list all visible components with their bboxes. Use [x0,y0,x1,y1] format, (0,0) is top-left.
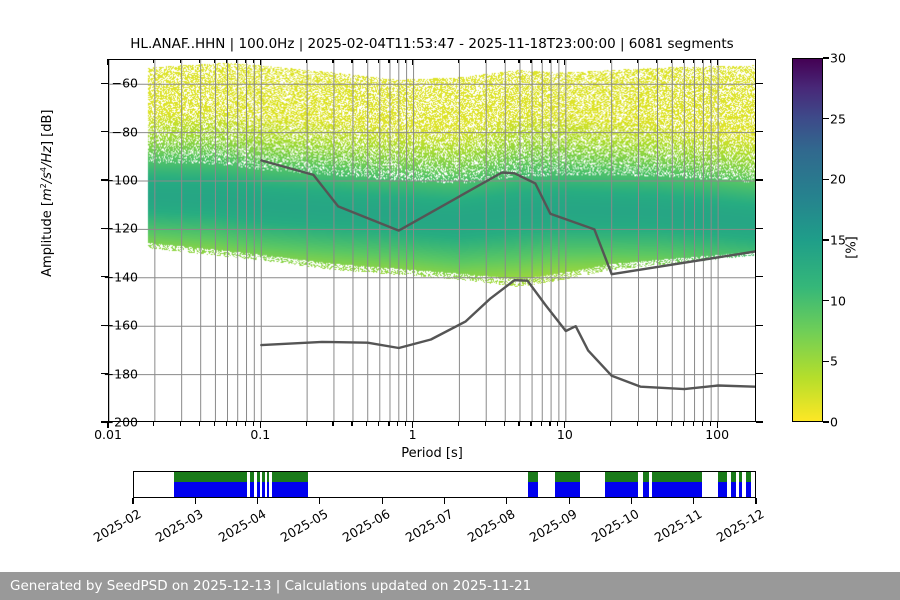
colorbar-tick-label: 30 [830,51,846,66]
timeline-segment [605,472,639,497]
timeline-segment [718,472,727,497]
colorbar-tick-label: 25 [830,111,846,126]
ppsd-figure: HL.ANAF..HHN | 100.0Hz | 2025-02-04T11:5… [0,0,900,600]
timeline-segment [643,472,649,497]
series-1 [261,280,755,389]
data-availability-timeline[interactable] [133,471,756,498]
colorbar-tick-label: 15 [830,233,846,248]
timeline-segment [250,472,254,497]
timeline-tick-label: 2025-02 [84,506,143,549]
noise-model-curves [109,60,755,421]
colorbar-tick-label: 20 [830,172,846,187]
x-tick-label: 0.01 [94,427,122,442]
y-tick-label: −60 [78,76,138,91]
timeline-segment [272,472,308,497]
timeline-segment [731,472,735,497]
timeline-segment [257,472,260,497]
y-tick-label: −120 [78,221,138,236]
x-tick-label: 1 [409,427,417,442]
timeline-segment [746,472,750,497]
timeline-tick-label: 2025-09 [520,506,579,549]
x-tick-label: 100 [705,427,729,442]
timeline-tick-label: 2025-05 [271,506,330,549]
y-tick-label: −160 [78,318,138,333]
colorbar-label: [%] [845,208,860,288]
timeline-tick-label: 2025-03 [146,506,205,549]
colorbar-tick-label: 0 [830,415,838,430]
timeline-segment [555,472,580,497]
psd-plot-area[interactable] [108,59,756,422]
timeline-tick-label: 2025-12 [707,506,766,549]
y-tick-label: −100 [78,173,138,188]
timeline-tick-label: 2025-06 [333,506,392,549]
timeline-segment [528,472,538,497]
page-title: HL.ANAF..HHN | 100.0Hz | 2025-02-04T11:5… [108,36,756,52]
colorbar-tick-label: 10 [830,293,846,308]
timeline-segment [262,472,265,497]
timeline-segment [739,472,742,497]
timeline-tick-label: 2025-10 [582,506,641,549]
timeline-tick-label: 2025-07 [396,506,455,549]
timeline-segment [267,472,269,497]
timeline-tick-label: 2025-11 [645,506,704,549]
x-tick-label: 0.1 [250,427,270,442]
y-tick-label: −180 [78,366,138,381]
timeline-segment [652,472,702,497]
series-0 [261,160,755,274]
colorbar [792,58,823,422]
colorbar-tick-label: 5 [830,354,838,369]
timeline-tick-label: 2025-04 [209,506,268,549]
x-axis-label: Period [s] [108,446,756,461]
timeline-segment [174,472,247,497]
timeline-tick-label: 2025-08 [458,506,517,549]
y-axis-label: Amplitude [m2/s4/Hz] [dB] [39,43,55,343]
footer-text: Generated by SeedPSD on 2025-12-13 | Cal… [10,578,531,594]
y-tick-label: −80 [78,124,138,139]
y-tick-label: −140 [78,269,138,284]
x-tick-label: 10 [557,427,573,442]
